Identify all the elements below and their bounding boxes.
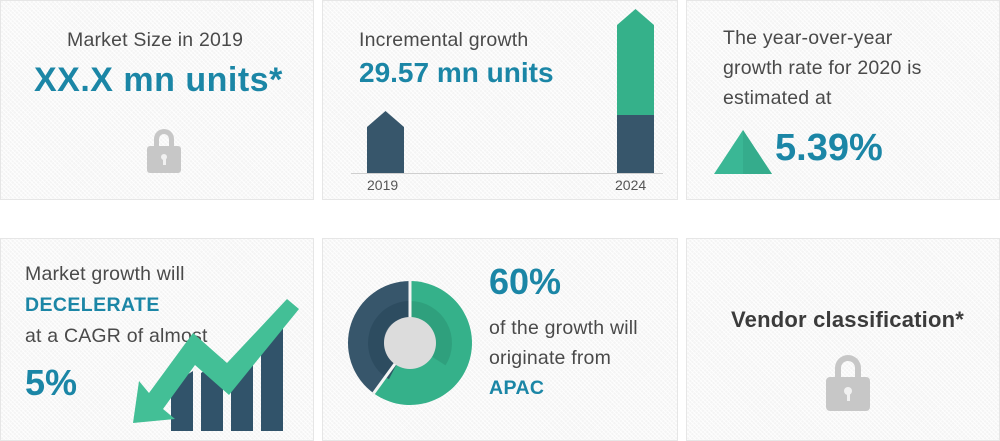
card-vendor-classification: Vendor classification* [686, 238, 1000, 441]
card-apac-share: 60% of the growth will originate from AP… [322, 238, 678, 441]
card-cagr: Market growth will DECELERATE at a CAGR … [0, 238, 314, 441]
apac-donut-chart [344, 277, 476, 409]
infographic-canvas: Market Size in 2019 XX.X mn units* Incre… [0, 0, 1000, 441]
lock-keystem [163, 158, 166, 165]
incremental-growth-bar-chart [323, 1, 678, 200]
x-axis-label-2019: 2019 [367, 177, 398, 193]
vendor-classification-title: Vendor classification* [731, 305, 964, 335]
donut-hub [384, 317, 436, 369]
up-triangle-icon [713, 129, 773, 175]
bar-2024-base [617, 115, 654, 173]
apac-line-2: originate from [489, 343, 611, 373]
yoy-growth-value: 5.39% [775, 129, 883, 167]
market-size-value: XX.X mn units* [34, 61, 283, 99]
yoy-growth-text: The year-over-year growth rate for 2020 … [723, 23, 993, 113]
market-size-title: Market Size in 2019 [67, 25, 243, 55]
lock-keystem [847, 392, 851, 401]
declining-arrow-chart-icon [131, 293, 307, 433]
lock-icon [826, 355, 870, 411]
apac-line-1: of the growth will [489, 313, 638, 343]
card-yoy-growth: The year-over-year growth rate for 2020 … [686, 0, 1000, 200]
yoy-line-1: The year-over-year [723, 23, 993, 53]
cagr-value: 5% [25, 364, 77, 402]
card-incremental-growth: Incremental growth 29.57 mn units 2019 2… [322, 0, 678, 200]
cagr-line-1: Market growth will [25, 259, 185, 289]
apac-region: APAC [489, 373, 544, 403]
bar-2019 [367, 111, 404, 173]
yoy-line-2: growth rate for 2020 is [723, 53, 993, 83]
lock-icon [147, 129, 181, 173]
bar-2024-increment [617, 9, 654, 115]
yoy-line-3: estimated at [723, 83, 993, 113]
x-axis-label-2024: 2024 [615, 177, 646, 193]
apac-percent: 60% [489, 263, 561, 301]
card-market-size: Market Size in 2019 XX.X mn units* [0, 0, 314, 200]
